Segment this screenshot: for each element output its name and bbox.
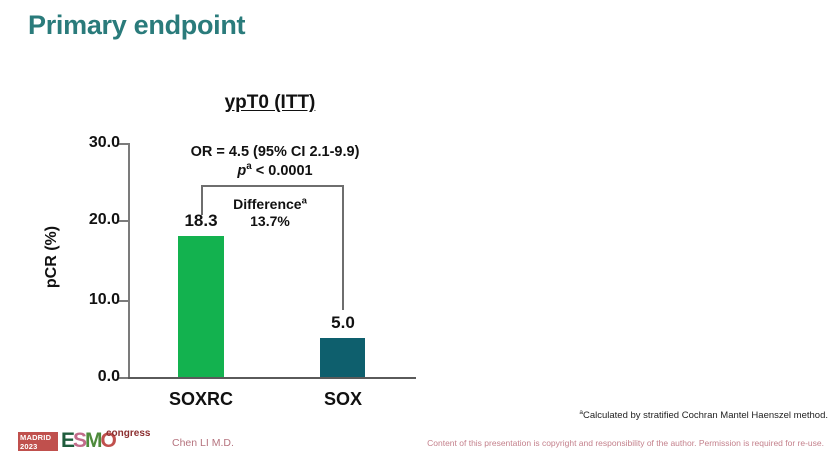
annotation-p-value: pa < 0.0001	[150, 163, 400, 179]
presenter-name: Chen LI M.D.	[172, 437, 234, 449]
footnote: aCalculated by stratified Cochran Mantel…	[430, 410, 828, 421]
footnote-text: Calculated by stratified Cochran Mantel …	[583, 410, 828, 421]
bar-soxrc	[178, 236, 224, 377]
chart-title: ypT0 (ITT)	[120, 92, 420, 114]
logo-brand-suffix: congress	[106, 428, 150, 439]
chart-ypt0-itt: ypT0 (ITT) pCR (%) 30.0 20.0 10.0 0.0 18…	[0, 0, 440, 420]
chart-ypt0n0-itt: ypT0N0 (ITT) tpCR (%) 30.0 20.0 10.0 0.0…	[440, 0, 832, 420]
x-category-sox: SOX	[283, 389, 403, 410]
y-axis-line	[128, 143, 130, 378]
y-tick-mark	[119, 143, 128, 145]
bar-sox	[320, 338, 365, 377]
annotation-difference-value: 13.7%	[200, 213, 340, 229]
difference-word: Difference	[233, 196, 301, 212]
logo-letter-e: E	[61, 429, 73, 452]
y-tick-label: 30.0	[64, 134, 120, 152]
y-tick-mark	[119, 220, 128, 222]
copyright-notice: Content of this presentation is copyrigh…	[400, 438, 824, 448]
annotation-difference-label: Differencea	[200, 196, 340, 212]
bar-value-sox: 5.0	[303, 313, 383, 333]
p-symbol: p	[237, 163, 246, 179]
y-tick-label: 10.0	[64, 291, 120, 309]
x-axis-line	[128, 377, 416, 379]
logo-letter-s: S	[73, 429, 85, 452]
logo-year: 2023	[20, 442, 58, 451]
y-axis-label: pCR (%)	[43, 217, 61, 297]
x-category-soxrc: SOXRC	[141, 389, 261, 410]
y-tick-label: 20.0	[64, 211, 120, 229]
y-tick-label: 0.0	[64, 368, 120, 386]
logo-city: MADRID	[20, 433, 58, 442]
annotation-odds-ratio: OR = 4.5 (95% CI 2.1-9.9)	[150, 144, 400, 160]
difference-bracket-right-leg	[342, 185, 344, 310]
slide: Primary endpoint ypT0 (ITT) pCR (%) 30.0…	[0, 0, 832, 468]
y-tick-mark	[119, 377, 128, 379]
difference-bracket-top	[201, 185, 343, 187]
y-tick-mark	[119, 300, 128, 302]
p-text: < 0.0001	[252, 163, 313, 179]
logo-letter-m: M	[85, 429, 101, 452]
difference-superscript: a	[302, 195, 307, 206]
logo-city-year-badge: MADRID 2023	[18, 432, 58, 451]
